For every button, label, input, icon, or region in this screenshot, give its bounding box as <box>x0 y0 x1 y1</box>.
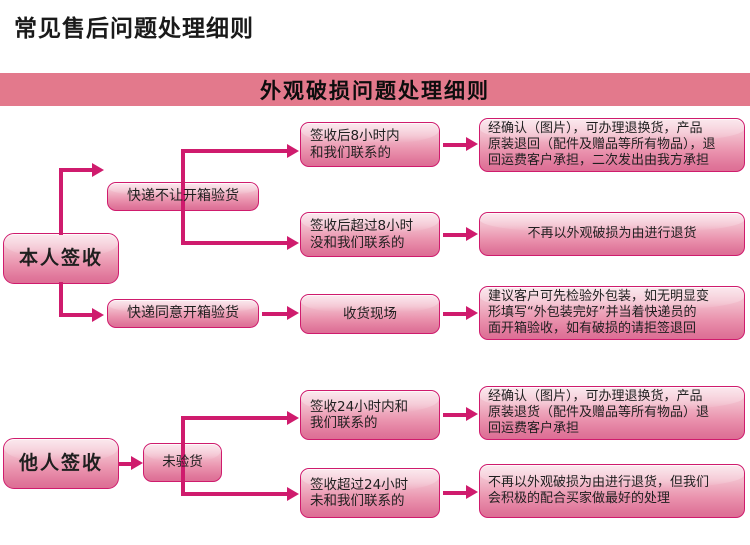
node-result-exchange-return-shipping-label: 经确认（图片），可办理退换货，产品 原装退货（配件及赠品等所有物品）退 回运费客… <box>488 389 709 437</box>
arrowhead-cond3-to-result3 <box>466 306 478 320</box>
node-condition-within-8h: 签收后8小时内 和我们联系的 <box>300 122 440 167</box>
arrowhead-cond5-to-result5 <box>466 485 478 499</box>
node-stage-courier-allow-inspection: 快递同意开箱验货 <box>107 299 259 328</box>
node-condition-within-24h: 签收24小时内和 我们联系的 <box>300 390 440 440</box>
connector-root1-to-stage2 <box>59 313 94 317</box>
section-banner: 外观破损问题处理细则 <box>0 73 750 106</box>
arrowhead-stage3-to-cond1 <box>287 411 299 425</box>
node-root-self-signed-label: 本人签收 <box>19 247 103 270</box>
arrowhead-root1-to-stage1 <box>92 163 104 177</box>
connector-stage3-to-cond2 <box>181 492 289 496</box>
arrowhead-stage1-to-cond2 <box>287 236 299 250</box>
node-result-exchange-return-shipping: 经确认（图片），可办理退换货，产品 原装退货（配件及赠品等所有物品）退 回运费客… <box>479 386 745 440</box>
node-result-no-return-but-assist: 不再以外观破损为由进行退货，但我们 会积极的配合买家做最好的处理 <box>479 464 745 518</box>
connector-root1-vertical-down <box>59 282 63 317</box>
node-stage-courier-allow-inspection-label: 快递同意开箱验货 <box>127 305 239 322</box>
node-result-no-return-appearance: 不再以外观破损为由进行退货 <box>479 212 745 256</box>
node-condition-within-8h-label: 签收后8小时内 和我们联系的 <box>310 128 400 161</box>
node-condition-within-24h-label: 签收24小时内和 我们联系的 <box>310 399 408 432</box>
node-result-exchange-full-return-label: 经确认（图片），可办理退换货，产品 原装退回（配件及赠品等所有物品），退 回运费… <box>488 121 716 169</box>
flowchart-page: 常见售后问题处理细则 外观破损问题处理细则 本人签收 快递不让开箱验货 快递同意… <box>0 0 750 545</box>
node-result-inspect-packaging-advice: 建议客户可先检验外包装，如无明显变 形填写“外包装完好”并当着快递员的 面开箱验… <box>479 286 745 340</box>
connector-root1-vertical-up <box>59 168 63 235</box>
node-condition-over-8h-label: 签收后超过8小时 没和我们联系的 <box>310 218 413 251</box>
arrowhead-cond4-to-result4 <box>466 407 478 421</box>
node-root-other-signed: 他人签收 <box>3 438 119 489</box>
node-root-other-signed-label: 他人签收 <box>19 452 103 475</box>
connector-stage2-to-cond3 <box>262 312 289 316</box>
arrowhead-cond2-to-result2 <box>466 227 478 241</box>
connector-stage1-to-cond1 <box>181 149 289 153</box>
node-result-inspect-packaging-advice-label: 建议客户可先检验外包装，如无明显变 形填写“外包装完好”并当着快递员的 面开箱验… <box>488 289 709 337</box>
arrowhead-root2-to-stage <box>131 456 143 470</box>
node-result-no-return-but-assist-label: 不再以外观破损为由进行退货，但我们 会积极的配合买家做最好的处理 <box>488 475 709 507</box>
arrowhead-stage1-to-cond1 <box>287 144 299 158</box>
node-condition-over-24h-label: 签收超过24小时 未和我们联系的 <box>310 477 408 510</box>
arrowhead-stage2-to-cond3 <box>287 306 299 320</box>
connector-root1-to-stage1 <box>59 168 94 172</box>
connector-stage1-to-cond2 <box>181 241 289 245</box>
node-condition-over-24h: 签收超过24小时 未和我们联系的 <box>300 468 440 518</box>
arrowhead-stage3-to-cond2 <box>287 487 299 501</box>
arrowhead-cond1-to-result1 <box>466 137 478 151</box>
node-result-exchange-full-return: 经确认（图片），可办理退换货，产品 原装退回（配件及赠品等所有物品），退 回运费… <box>479 118 745 172</box>
node-condition-receiving-scene-label: 收货现场 <box>343 306 397 322</box>
connector-stage3-to-cond1 <box>181 416 289 420</box>
node-stage-not-inspected-label: 未验货 <box>162 454 203 470</box>
node-result-no-return-appearance-label: 不再以外观破损为由进行退货 <box>527 226 696 242</box>
node-root-self-signed: 本人签收 <box>3 233 119 284</box>
page-title: 常见售后问题处理细则 <box>14 9 254 43</box>
node-condition-over-8h: 签收后超过8小时 没和我们联系的 <box>300 212 440 257</box>
node-stage-courier-refuse-inspection-label: 快递不让开箱验货 <box>127 188 239 205</box>
arrowhead-root1-to-stage2 <box>92 308 104 322</box>
section-banner-title: 外观破损问题处理细则 <box>0 73 750 106</box>
node-condition-receiving-scene: 收货现场 <box>300 294 440 334</box>
